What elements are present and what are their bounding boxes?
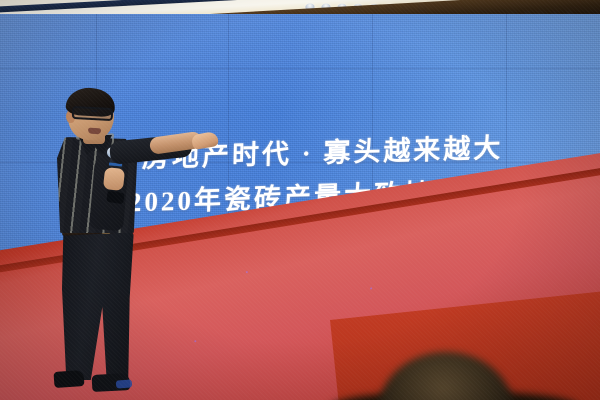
presentation-photo-scene: 房地产时代 · 寡头越来越大 2020年瓷砖产量大致持平或微增长 bbox=[0, 0, 600, 400]
speaker-hand-on-mic bbox=[103, 167, 125, 191]
speaker-shoe-left bbox=[53, 370, 84, 388]
speaker-figure bbox=[0, 0, 600, 400]
speaker-mouth bbox=[88, 128, 101, 135]
speaker-shoe-accent bbox=[116, 379, 133, 388]
glasses-icon bbox=[72, 106, 114, 121]
speaker-trousers bbox=[62, 228, 134, 380]
glasses-bridge bbox=[91, 110, 97, 112]
microphone-base bbox=[106, 191, 124, 204]
